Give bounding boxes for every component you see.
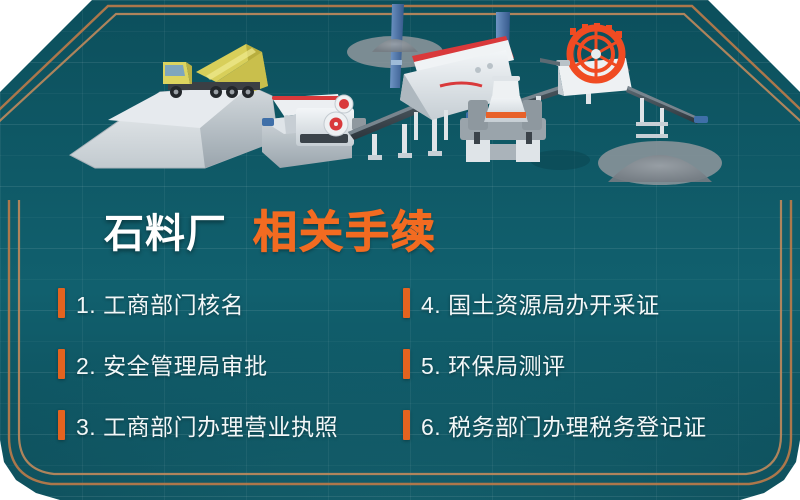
dump-truck xyxy=(163,44,268,98)
list-item-label: 2. 安全管理局审批 xyxy=(76,347,268,381)
list-item-label: 5. 环保局测评 xyxy=(421,347,566,381)
headline-prefix: 石料厂 xyxy=(104,201,227,259)
list-item: 5. 环保局测评 xyxy=(403,333,758,394)
list-item: 3. 工商部门办理营业执照 xyxy=(58,394,403,455)
list-item-label: 1. 工商部门核名 xyxy=(76,286,244,320)
bullet-bar-icon xyxy=(58,288,65,318)
sand-washer-wheel xyxy=(540,23,708,138)
list-item-label: 6. 税务部门办理税务登记证 xyxy=(421,408,707,442)
list-item: 6. 税务部门办理税务登记证 xyxy=(403,394,758,455)
list-item-label: 3. 工商部门办理营业执照 xyxy=(76,408,338,442)
list-item: 2. 安全管理局审批 xyxy=(58,333,403,394)
production-line-illustration xyxy=(0,0,800,185)
list-item: 4. 国土资源局办开采证 xyxy=(403,272,758,333)
list-item-label: 4. 国土资源局办开采证 xyxy=(421,286,660,320)
bullet-bar-icon xyxy=(58,410,65,440)
procedure-list: 1. 工商部门核名 4. 国土资源局办开采证 2. 安全管理局审批 5. 环保局… xyxy=(58,272,758,455)
bullet-bar-icon xyxy=(58,349,65,379)
headline: 石料厂 相关手续 xyxy=(104,196,437,260)
headline-main: 相关手续 xyxy=(253,196,437,260)
poster-canvas: 石料厂 相关手续 1. 工商部门核名 4. 国土资源局办开采证 2. 安全管理局… xyxy=(0,0,800,500)
list-item: 1. 工商部门核名 xyxy=(58,272,403,333)
bullet-bar-icon xyxy=(403,349,410,379)
bullet-bar-icon xyxy=(403,288,410,318)
bullet-bar-icon xyxy=(403,410,410,440)
